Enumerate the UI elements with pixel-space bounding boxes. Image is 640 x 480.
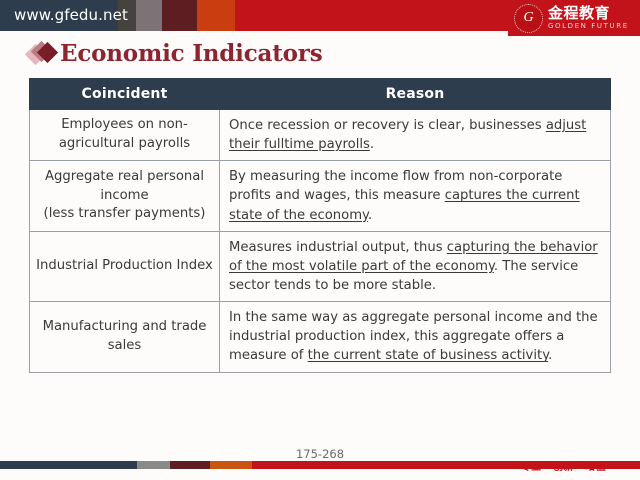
indicators-table: Coincident Reason Employees on non-agric… (29, 78, 611, 373)
footer-slogan: 专业 · 创新 · 增值 (495, 458, 632, 473)
table-row: Employees on non-agricultural payrollsOn… (30, 110, 611, 161)
header-band-mauve (136, 0, 162, 31)
header-band-maroon (162, 0, 197, 31)
footer-band-navy (0, 461, 137, 469)
slide-canvas: www.gfedu.net G 金程教育 GOLDEN FUTURE Econo… (0, 0, 640, 480)
cell-indicator-reason: Once recession or recovery is clear, bus… (220, 110, 611, 161)
cell-indicator-term: Aggregate real personal income(less tran… (30, 161, 220, 231)
diamond-bullet-icon (26, 41, 60, 67)
logo-name-en: GOLDEN FUTURE (548, 23, 629, 30)
table-header-row: Coincident Reason (30, 79, 611, 110)
column-header-reason: Reason (220, 79, 611, 110)
logo-name-cn: 金程教育 (548, 6, 629, 21)
logo-text-group: 金程教育 GOLDEN FUTURE (548, 6, 629, 30)
page-title: Economic Indicators (60, 40, 322, 67)
footer-band-gray (137, 461, 170, 469)
reason-emphasis: adjust their fulltime payrolls (229, 118, 586, 152)
table-row: Manufacturing and trade salesIn the same… (30, 302, 611, 372)
site-url-label[interactable]: www.gfedu.net (14, 6, 128, 24)
cell-indicator-term: Employees on non-agricultural payrolls (30, 110, 220, 161)
slogan-tick-left (495, 463, 517, 468)
cell-indicator-reason: By measuring the income flow from non-co… (220, 161, 611, 231)
cell-indicator-reason: Measures industrial output, thus capturi… (220, 231, 611, 301)
header-band-orange (197, 0, 235, 31)
table-row: Industrial Production IndexMeasures indu… (30, 231, 611, 301)
footer-band-orange (210, 461, 252, 469)
page-title-row: Economic Indicators (26, 40, 322, 67)
logo-seal-icon: G (514, 4, 543, 33)
cell-indicator-reason: In the same way as aggregate personal in… (220, 302, 611, 372)
slogan-text: 专业 · 创新 · 增值 (521, 458, 606, 473)
footer-band-maroon (170, 461, 210, 469)
brand-logo[interactable]: G 金程教育 GOLDEN FUTURE (508, 0, 640, 36)
slogan-tick-right (610, 463, 632, 468)
reason-emphasis: the current state of business activity (308, 348, 549, 363)
cell-indicator-term: Manufacturing and trade sales (30, 302, 220, 372)
table-head: Coincident Reason (30, 79, 611, 110)
column-header-coincident: Coincident (30, 79, 220, 110)
reason-emphasis: captures the current state of the econom… (229, 188, 580, 222)
table-body: Employees on non-agricultural payrollsOn… (30, 110, 611, 373)
table-row: Aggregate real personal income(less tran… (30, 161, 611, 231)
cell-indicator-term: Industrial Production Index (30, 231, 220, 301)
reason-emphasis: capturing the behavior of the most volat… (229, 240, 598, 274)
